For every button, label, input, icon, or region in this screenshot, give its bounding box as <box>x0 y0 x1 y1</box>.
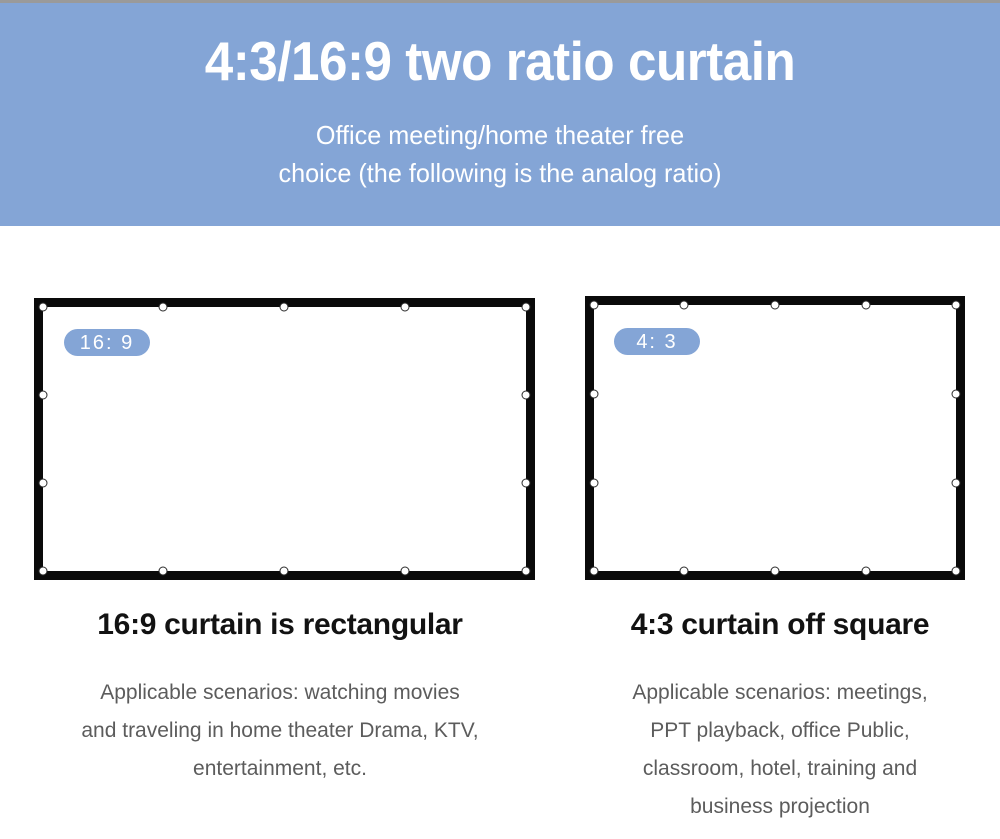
grommet-icon <box>590 301 599 310</box>
caption-line: and traveling in home theater Drama, KTV… <box>0 712 560 750</box>
grommet-icon <box>39 567 48 576</box>
grommet-icon <box>280 567 289 576</box>
grommet-icon <box>401 303 410 312</box>
grommet-icon <box>39 391 48 400</box>
ratio-badge-4-3: 4: 3 <box>614 328 700 355</box>
grommet-icon <box>771 301 780 310</box>
caption-body-16-9: Applicable scenarios: watching movies an… <box>0 674 560 788</box>
grommet-icon <box>39 479 48 488</box>
content-area: 16: 9 16:9 curtain is rectangular Applic… <box>0 226 1000 839</box>
grommet-icon <box>680 301 689 310</box>
subtitle-line-1: Office meeting/home theater free <box>15 116 985 154</box>
grommet-icon <box>159 303 168 312</box>
grommet-icon <box>952 301 961 310</box>
grommet-icon <box>680 567 689 576</box>
caption-line: classroom, hotel, training and <box>560 750 1000 788</box>
grommet-icon <box>280 303 289 312</box>
grommet-icon <box>590 567 599 576</box>
caption-line: business projection <box>560 788 1000 826</box>
grommet-icon <box>401 567 410 576</box>
caption-title-16-9: 16:9 curtain is rectangular <box>0 607 560 643</box>
grommet-icon <box>952 390 961 399</box>
ratio-badge-16-9: 16: 9 <box>64 329 150 356</box>
caption-line: Applicable scenarios: watching movies <box>0 674 560 712</box>
grommet-icon <box>522 391 531 400</box>
grommet-icon <box>522 567 531 576</box>
grommet-icon <box>39 303 48 312</box>
grommet-icon <box>862 567 871 576</box>
caption-line: Applicable scenarios: meetings, <box>560 674 1000 712</box>
caption-line: entertainment, etc. <box>0 750 560 788</box>
caption-title-4-3: 4:3 curtain off square <box>560 607 1000 643</box>
grommet-icon <box>952 567 961 576</box>
curtain-frame-16-9: 16: 9 <box>34 298 535 580</box>
caption-line: PPT playback, office Public, <box>560 712 1000 750</box>
page-title: 4:3/16:9 two ratio curtain <box>35 3 965 92</box>
grommet-icon <box>522 479 531 488</box>
grommet-icon <box>771 567 780 576</box>
grommet-icon <box>590 479 599 488</box>
grommet-icon <box>590 390 599 399</box>
curtain-frame-4-3: 4: 3 <box>585 296 965 580</box>
grommet-icon <box>952 479 961 488</box>
subtitle-line-2: choice (the following is the analog rati… <box>15 154 985 192</box>
grommet-icon <box>159 567 168 576</box>
grommet-icon <box>862 301 871 310</box>
grommet-icon <box>522 303 531 312</box>
page-subtitle: Office meeting/home theater free choice … <box>15 92 985 192</box>
header-banner: 4:3/16:9 two ratio curtain Office meetin… <box>0 3 1000 226</box>
caption-body-4-3: Applicable scenarios: meetings, PPT play… <box>560 674 1000 826</box>
